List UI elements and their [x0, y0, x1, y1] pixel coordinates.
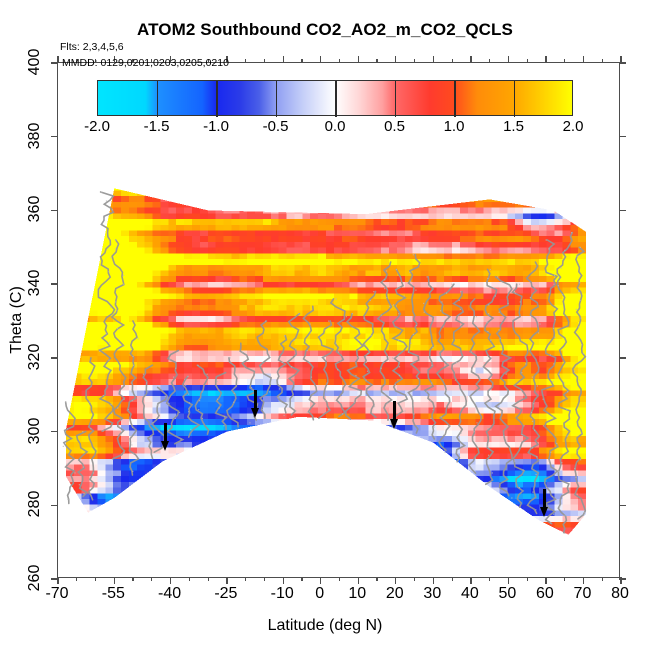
y-axis-tick — [619, 210, 626, 211]
x-axis-minor-tick — [301, 577, 302, 581]
x-axis-minor-tick — [76, 577, 77, 581]
plot-page: ATOM2 Southbound CO2_AO2_m_CO2_QCLS Flts… — [0, 0, 650, 650]
colorbar-tick-label: 0.0 — [325, 118, 346, 135]
y-axis-tick-label: 280 — [26, 491, 44, 518]
x-axis-minor-tick — [264, 59, 265, 63]
mmdd-annotation: MMDD: 0129,0201,0203,0205,0210 — [62, 57, 229, 69]
x-axis-tick — [320, 577, 321, 584]
x-axis-minor-tick — [489, 59, 490, 63]
x-axis-tick-label: -10 — [271, 585, 294, 603]
x-axis-tick — [320, 56, 321, 63]
y-axis-tick-label: 360 — [26, 196, 44, 223]
colorbar-tick — [395, 81, 396, 117]
x-axis-minor-tick — [489, 577, 490, 581]
arrow-shaft — [543, 489, 546, 509]
x-axis-tick — [470, 56, 471, 63]
x-axis-tick-label: -25 — [214, 585, 237, 603]
x-axis-tick — [583, 577, 584, 584]
x-axis-tick-label: 40 — [461, 585, 479, 603]
axes-frame — [57, 62, 620, 578]
y-axis-tick-label: 260 — [26, 565, 44, 592]
x-axis-minor-tick — [602, 577, 603, 581]
y-axis-tick — [619, 136, 626, 137]
x-axis-tick — [508, 577, 509, 584]
x-axis-tick — [433, 577, 434, 584]
x-axis-minor-tick — [245, 577, 246, 581]
x-axis-minor-tick — [208, 577, 209, 581]
x-axis-minor-tick — [527, 59, 528, 63]
x-axis-tick — [57, 56, 58, 63]
x-axis-minor-tick — [452, 59, 453, 63]
x-axis-minor-tick — [264, 577, 265, 581]
x-axis-tick — [358, 56, 359, 63]
y-axis-tick — [51, 210, 58, 211]
x-axis-tick-label: 30 — [423, 585, 441, 603]
x-axis-tick — [583, 56, 584, 63]
x-axis-tick-label: -70 — [45, 585, 68, 603]
arrow-head — [390, 419, 398, 429]
x-axis-tick — [226, 577, 227, 584]
x-axis-tick — [114, 577, 115, 584]
x-axis-tick — [470, 577, 471, 584]
y-axis-tick — [619, 505, 626, 506]
colorbar-gradient — [97, 80, 573, 116]
y-axis-tick-label: 320 — [26, 343, 44, 370]
x-axis-tick — [395, 577, 396, 584]
x-axis-tick-label: 0 — [315, 585, 324, 603]
x-axis-minor-tick — [564, 577, 565, 581]
x-axis-minor-tick — [452, 577, 453, 581]
x-axis-minor-tick — [132, 577, 133, 581]
colorbar-tick-label: 0.5 — [384, 118, 405, 135]
flights-annotation: Flts: 2,3,4,5,6 — [60, 41, 124, 53]
annotation-arrow — [161, 423, 170, 453]
x-axis-tick-label: 80 — [611, 585, 629, 603]
y-axis-tick — [51, 283, 58, 284]
y-axis-tick — [51, 505, 58, 506]
x-axis-title: Latitude (deg N) — [0, 617, 650, 635]
x-axis-minor-tick — [527, 577, 528, 581]
x-axis-tick-label: 20 — [386, 585, 404, 603]
x-axis-tick — [545, 577, 546, 584]
colorbar-tick — [454, 81, 455, 117]
colorbar-tick-label: 2.0 — [563, 118, 584, 135]
y-axis-tick — [51, 136, 58, 137]
y-axis-tick-label: 380 — [26, 122, 44, 149]
arrow-head — [161, 441, 169, 451]
x-axis-tick-label: 10 — [348, 585, 366, 603]
x-axis-tick-label: 70 — [574, 585, 592, 603]
x-axis-tick — [433, 56, 434, 63]
x-axis-minor-tick — [376, 59, 377, 63]
arrow-head — [251, 408, 259, 418]
colorbar-tick — [335, 81, 336, 117]
x-axis-tick — [57, 577, 58, 584]
x-axis-minor-tick — [301, 59, 302, 63]
x-axis-minor-tick — [339, 59, 340, 63]
x-axis-tick — [395, 56, 396, 63]
x-axis-tick-label: 60 — [536, 585, 554, 603]
arrow-head — [540, 507, 548, 517]
x-axis-tick — [283, 577, 284, 584]
arrow-shaft — [393, 401, 396, 421]
x-axis-tick — [170, 577, 171, 584]
colorbar-tick-label: 1.5 — [503, 118, 524, 135]
x-axis-tick-label: -40 — [158, 585, 181, 603]
page-title: ATOM2 Southbound CO2_AO2_m_CO2_QCLS — [0, 20, 650, 40]
x-axis-tick-label: 50 — [498, 585, 516, 603]
x-axis-minor-tick — [245, 59, 246, 63]
y-axis-title: Theta (C) — [8, 286, 26, 354]
x-axis-minor-tick — [339, 577, 340, 581]
colorbar-tick — [157, 81, 158, 117]
arrow-shaft — [164, 423, 167, 443]
x-axis-minor-tick — [95, 577, 96, 581]
y-axis-tick — [619, 431, 626, 432]
x-axis-minor-tick — [564, 59, 565, 63]
y-axis-tick — [619, 283, 626, 284]
annotation-arrow — [390, 401, 399, 431]
y-axis-tick-label: 340 — [26, 270, 44, 297]
colorbar-tick-label: -1.5 — [144, 118, 170, 135]
y-axis-tick-label: 400 — [26, 49, 44, 76]
y-axis-tick — [51, 357, 58, 358]
x-axis-minor-tick — [602, 59, 603, 63]
colorbar-tick-label: -1.0 — [203, 118, 229, 135]
colorbar-tick-label: -2.0 — [84, 118, 110, 135]
x-axis-minor-tick — [376, 577, 377, 581]
x-axis-minor-tick — [414, 59, 415, 63]
annotation-arrow — [251, 390, 260, 420]
x-axis-minor-tick — [151, 577, 152, 581]
colorbar-tick — [276, 81, 277, 117]
x-axis-minor-tick — [189, 577, 190, 581]
colorbar-tick — [514, 81, 515, 117]
heatmap-canvas — [58, 63, 621, 579]
colorbar: -2.0-1.5-1.0-0.50.00.51.01.52.0 — [97, 80, 573, 116]
x-axis-tick — [508, 56, 509, 63]
x-axis-tick — [545, 56, 546, 63]
x-axis-tick — [620, 56, 621, 63]
colorbar-tick — [216, 81, 217, 117]
y-axis-tick-label: 300 — [26, 417, 44, 444]
arrow-shaft — [254, 390, 257, 410]
x-axis-tick — [358, 577, 359, 584]
y-axis-tick — [619, 357, 626, 358]
x-axis-tick — [283, 56, 284, 63]
x-axis-tick-label: -55 — [102, 585, 125, 603]
colorbar-tick-label: -0.5 — [263, 118, 289, 135]
y-axis-tick — [51, 431, 58, 432]
colorbar-tick-label: 1.0 — [444, 118, 465, 135]
annotation-arrow — [540, 489, 549, 519]
x-axis-minor-tick — [414, 577, 415, 581]
x-axis-tick — [620, 577, 621, 584]
